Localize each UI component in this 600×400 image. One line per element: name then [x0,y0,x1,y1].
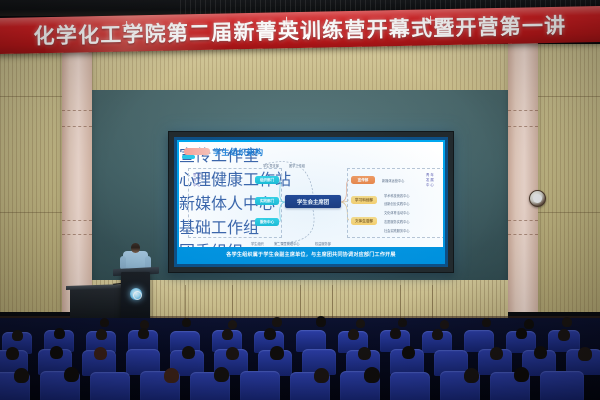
right-leaf-1: 新媒体运营中心 [382,178,404,183]
slide-bottom-label-3: 权益服务部 [315,241,331,246]
right-node-1: 宣传部 [351,176,375,184]
speaker-head [131,243,140,253]
screen-image: 学生组织架构 学生党支部 团学工作组 思 政 育 人 中 心 宣传工作室 心理健… [174,137,448,267]
slide: 学生组织架构 学生党支部 团学工作组 思 政 育 人 中 心 宣传工作室 心理健… [177,140,445,264]
right-leaf-2: 学术科技竞赛中心 [384,193,410,198]
right-leaf-6: 社会实践服务中心 [384,228,410,233]
side-table [70,288,122,320]
right-group-heading-3: 中 心 [426,183,434,187]
mindmap-center-node: 学生会主席团 [285,195,341,208]
pillar-right [508,30,538,312]
projection-screen: 学生组织架构 学生党支部 团学工作组 思 政 育 人 中 心 宣传工作室 心理健… [168,131,454,273]
podium [121,272,150,320]
right-leaf-4: 文化体育活动中心 [384,210,410,215]
pillar-left [62,30,92,312]
right-group-heading-2: 发 展 [426,178,434,182]
auditorium-photo: 学生组织架构 学生党支部 团学工作组 思 政 育 人 中 心 宣传工作室 心理健… [0,0,600,400]
slide-bottom-label-1: 学生组织 [251,241,264,246]
right-node-3: 文体生活部 [351,217,377,225]
right-group-heading-1: 青 年 [426,173,434,177]
right-leaf-5: 志愿服务实践中心 [384,219,410,224]
university-emblem-icon [130,288,142,300]
slide-bottom-label-2: 第二课堂管理中心 [274,241,300,246]
audience-area [0,318,600,400]
right-leaf-3: 创新创业实践中心 [384,201,410,206]
slide-caption: 各学生组织属于学生会副主席单位，与主席团共同协调对应部门工作开展 [179,247,443,262]
slide-content: 学生组织架构 学生党支部 团学工作组 思 政 育 人 中 心 宣传工作室 心理健… [179,142,443,247]
wall-clock-icon [529,190,546,207]
right-node-2: 学习科创部 [351,196,377,204]
